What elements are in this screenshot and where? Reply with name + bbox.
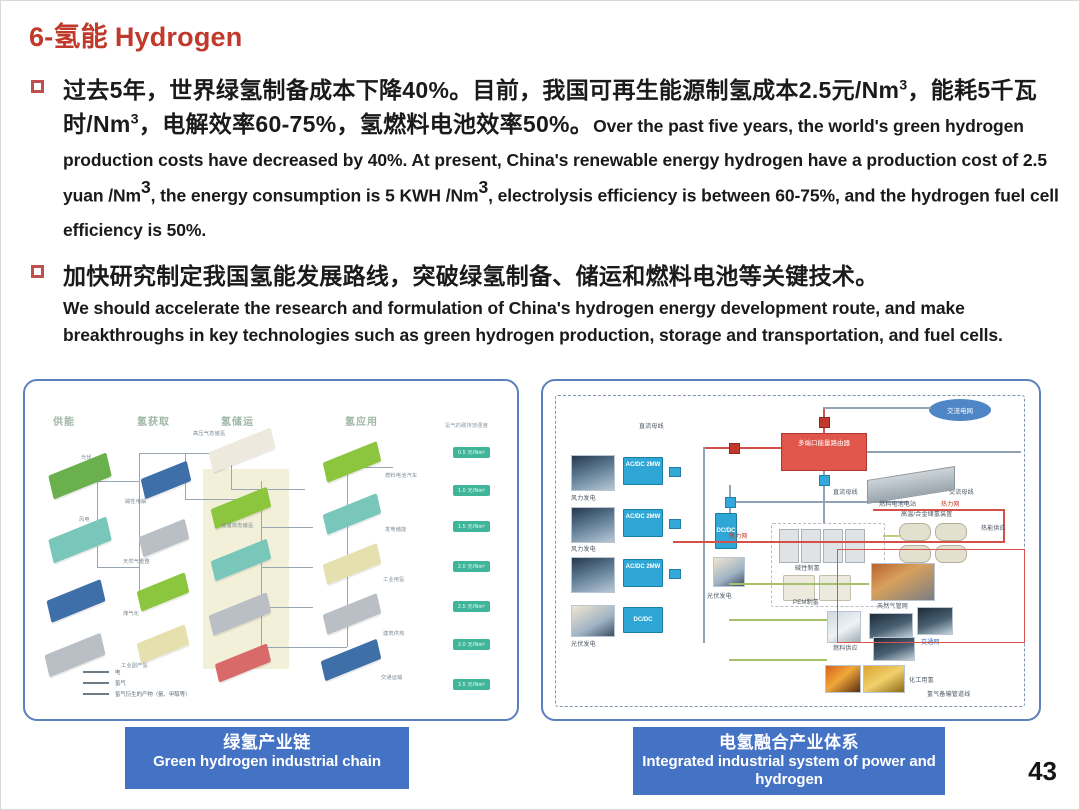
badge-carbon-5: 2.5 元/Nm³ bbox=[453, 601, 490, 612]
breaker-node bbox=[669, 467, 681, 477]
badge-carbon-1: 0.5 元/Nm³ bbox=[453, 447, 490, 458]
converter-dcdc-2-label: DC/DC bbox=[634, 617, 653, 623]
converter-acdc-2: AC/DC 2MW bbox=[623, 509, 663, 537]
connector-line bbox=[231, 489, 305, 490]
dc-bus-label-1: 直流母线 bbox=[639, 421, 664, 430]
bullet-1-cn-part1: 过去5年，世界绿氢制备成本下降40%。目前，我国可再生能源制氢成本2.5元 bbox=[63, 77, 855, 103]
badge-carbon-7: 3.5 元/Nm³ bbox=[453, 679, 490, 690]
energy-router-label: 多端口能量路由器 bbox=[798, 440, 850, 447]
note-gasification: 煤气化 bbox=[123, 611, 139, 618]
figure-panel-power-hydrogen-system: 交流电网 多端口能量路由器 直流母线 直流母线 交流母线 bbox=[541, 379, 1041, 721]
caption-right-en: Integrated industrial system of power an… bbox=[641, 753, 937, 789]
ac-grid-line bbox=[823, 407, 931, 409]
caption-green-hydrogen-chain: 绿氢产业链 Green hydrogen industrial chain bbox=[125, 727, 409, 789]
illustration-industry-use bbox=[323, 543, 382, 585]
caption-power-hydrogen-system: 电氢融合产业体系 Integrated industrial system of… bbox=[633, 727, 945, 795]
converter-acdc-1: AC/DC 2MW bbox=[623, 457, 663, 485]
steel-furnace-photo bbox=[825, 665, 861, 693]
connector-line bbox=[261, 527, 313, 528]
caption-left-en: Green hydrogen industrial chain bbox=[133, 753, 401, 771]
legend-swatch-derivatives bbox=[83, 693, 109, 695]
stage-label-use: 氢应用 bbox=[345, 413, 378, 428]
hydrogen-output-line bbox=[883, 535, 901, 537]
illustration-building-heat bbox=[323, 593, 382, 635]
illustration-solar-farm bbox=[48, 452, 112, 499]
hydrogen-pipeline-label: 氢气备输管道线 bbox=[927, 689, 970, 698]
note-high-pressure: 高压气态储氢 bbox=[193, 431, 225, 438]
slide: 6-氢能Hydrogen 过去5年，世界绿氢制备成本下降40%。目前，我国可再生… bbox=[0, 0, 1080, 810]
thermal-network-label-1: 热力网 bbox=[941, 499, 960, 508]
figure-panel-green-hydrogen-chain: 供能 氢获取 氢储运 氢应用 氢气的碳排放强度 bbox=[23, 379, 519, 721]
electrolyzer-rack bbox=[801, 529, 821, 563]
illustration-coal-gasifier bbox=[137, 572, 190, 612]
bullet-1-en-sup-b: 3 bbox=[478, 177, 488, 197]
storage-tank bbox=[899, 523, 931, 541]
converter-acdc-3-label: AC/DC 2MW bbox=[626, 564, 661, 570]
power-hydrogen-system-diagram: 交流电网 多端口能量路由器 直流母线 直流母线 交流母线 bbox=[543, 381, 1039, 719]
dc-bus-vertical bbox=[703, 447, 705, 643]
illustration-electrolyzer bbox=[141, 461, 192, 500]
illustration-byproduct-h2 bbox=[137, 624, 190, 664]
note-alkaline: 碱性电解 bbox=[125, 499, 147, 506]
breaker-node bbox=[669, 569, 681, 579]
legend-swatch-electricity bbox=[83, 671, 109, 673]
legend-label-electricity: 电 bbox=[115, 668, 120, 676]
stage-label-storage: 氢储运 bbox=[221, 413, 254, 428]
caption-right-cn: 电氢融合产业体系 bbox=[641, 733, 937, 753]
heat-supply-label: 热能供应 bbox=[981, 523, 1006, 532]
storage-tank bbox=[935, 523, 967, 541]
note-reforming: 天然气重整 bbox=[123, 559, 163, 566]
bullet-1-en-sup-a: 3 bbox=[141, 177, 151, 197]
breaker-node bbox=[669, 519, 681, 529]
badge-carbon-2: 1.0 元/Nm³ bbox=[453, 485, 490, 496]
ac-grid-label: 交流电网 bbox=[947, 405, 973, 415]
bullet-2-en: We should accelerate the research and fo… bbox=[63, 295, 1059, 350]
badge-carbon-6: 3.0 元/Nm³ bbox=[453, 639, 490, 650]
energy-router: 多端口能量路由器 bbox=[781, 433, 867, 471]
thermal-line bbox=[673, 541, 1005, 543]
wind-turbine-photo bbox=[571, 507, 615, 543]
converter-acdc-3: AC/DC 2MW bbox=[623, 559, 663, 587]
wind-power-label-1: 风力发电 bbox=[571, 493, 596, 502]
note-power-storage: 发电储能 bbox=[385, 527, 407, 534]
bullet-1-cn-part2: /Nm bbox=[855, 77, 899, 103]
bullet-1-cn-part4: ，电解效率60-75%，氢燃料电池效率50%。 bbox=[139, 111, 593, 137]
illustration-fuel-cell-vehicle bbox=[323, 441, 382, 483]
connector-line bbox=[139, 453, 140, 593]
note-byproduct: 工业副产氢 bbox=[121, 663, 167, 670]
illustration-reformer bbox=[139, 519, 190, 558]
connector-line bbox=[97, 567, 139, 568]
caption-left-cn: 绿氢产业链 bbox=[133, 733, 401, 753]
pem-electrolysis-label: PEM制氢 bbox=[793, 597, 819, 606]
ac-grid-node: 交流电网 bbox=[929, 399, 991, 421]
converter-acdc-1-label: AC/DC 2MW bbox=[626, 462, 661, 468]
note-pv: 光伏 bbox=[81, 455, 92, 462]
pv-power-label-1: 光伏发电 bbox=[707, 591, 732, 600]
fuel-supply-label: 燃料供应 bbox=[833, 643, 858, 652]
router-dc-line bbox=[703, 447, 781, 449]
page-title: 6-氢能Hydrogen bbox=[29, 15, 242, 54]
converter-dcdc-2: DC/DC bbox=[623, 607, 663, 633]
fuel-cell-station-label: 燃料电池电站 bbox=[879, 499, 916, 508]
bullet-square-icon bbox=[31, 265, 44, 278]
bullet-item-1: 过去5年，世界绿氢制备成本下降40%。目前，我国可再生能源制氢成本2.5元/Nm… bbox=[27, 73, 1059, 245]
pv-power-label-2: 光伏发电 bbox=[571, 639, 596, 648]
bullet-1-cn-sup3: 3 bbox=[131, 111, 139, 127]
pv-panel-photo bbox=[571, 605, 615, 637]
breaker-node bbox=[725, 497, 736, 508]
breaker-node bbox=[819, 417, 830, 428]
bullet-square-icon bbox=[31, 80, 44, 93]
chemical-use-line bbox=[729, 659, 827, 661]
page-number: 43 bbox=[1028, 756, 1057, 787]
badge-carbon-3: 1.5 元/Nm³ bbox=[453, 521, 490, 532]
legend-label-derivatives: 氢气衍生的产物（氨、甲醇等） bbox=[115, 690, 190, 698]
breaker-node bbox=[729, 443, 740, 454]
illustration-transport bbox=[321, 639, 382, 682]
illustration-power-generation bbox=[323, 493, 382, 535]
bullet-1-cn-sup2: 3 bbox=[899, 77, 907, 93]
thermal-network-label-2: 热力网 bbox=[729, 531, 748, 540]
converter-acdc-2-label: AC/DC 2MW bbox=[626, 514, 661, 520]
note-wind: 风电 bbox=[79, 517, 90, 524]
connector-line bbox=[97, 481, 139, 482]
bullet-1-en-mid: , the energy consumption is 5 KWH /Nm bbox=[151, 186, 479, 206]
breaker-node bbox=[819, 475, 830, 486]
note-building-heat: 建筑供热 bbox=[383, 631, 405, 638]
stage-label-supply: 供能 bbox=[53, 413, 75, 428]
thermal-line bbox=[873, 509, 1005, 511]
note-transport: 交通运输 bbox=[381, 675, 437, 682]
chemical-plant-photo bbox=[863, 665, 905, 693]
badge-carbon-4: 2.0 元/Nm³ bbox=[453, 561, 490, 572]
electrolyzer-rack bbox=[779, 529, 799, 563]
bullet-item-2: 加快研究制定我国氢能发展路线，突破绿氢制备、储运和燃料电池等关键技术。 We s… bbox=[27, 259, 1059, 350]
chemical-hydrogen-label: 化工用氢 bbox=[909, 675, 934, 684]
connector-line bbox=[261, 567, 313, 568]
carbon-intensity-note: 氢气的碳排放强度 bbox=[445, 423, 507, 430]
wind-power-label-2: 风力发电 bbox=[571, 544, 596, 553]
illustration-hydro-plant bbox=[46, 579, 105, 623]
legend-swatch-hydrogen bbox=[83, 682, 109, 684]
legend-label-hydrogen: 氢气 bbox=[115, 679, 126, 687]
thermal-zone-frame bbox=[837, 549, 1025, 643]
note-liquid: 低温液态储氢 bbox=[221, 523, 263, 530]
ac-bus-horizontal bbox=[867, 451, 1021, 453]
green-hydrogen-chain-diagram: 供能 氢获取 氢储运 氢应用 氢气的碳排放强度 bbox=[25, 381, 517, 719]
wind-turbine-photo bbox=[571, 557, 615, 593]
note-industry: 工业用氢 bbox=[383, 577, 429, 584]
alkaline-electrolysis-label: 碱性制氢 bbox=[795, 563, 820, 572]
body-content: 过去5年，世界绿氢制备成本下降40%。目前，我国可再生能源制氢成本2.5元/Nm… bbox=[27, 73, 1059, 358]
note-fuel-cell-vehicle: 燃料电池汽车 bbox=[385, 473, 417, 480]
stage-label-obtain: 氢获取 bbox=[137, 413, 170, 428]
title-en: Hydrogen bbox=[108, 22, 243, 52]
dc-bus-label-2: 直流母线 bbox=[833, 487, 858, 496]
bullet-1-cn: 过去5年，世界绿氢制备成本下降40%。目前，我国可再生能源制氢成本2.5元/Nm… bbox=[63, 73, 1059, 245]
title-cn: 6-氢能 bbox=[29, 22, 108, 52]
wind-turbine-photo bbox=[571, 455, 615, 491]
bullet-2-cn: 加快研究制定我国氢能发展路线，突破绿氢制备、储运和燃料电池等关键技术。 bbox=[63, 259, 1059, 293]
connector-line bbox=[261, 647, 347, 648]
